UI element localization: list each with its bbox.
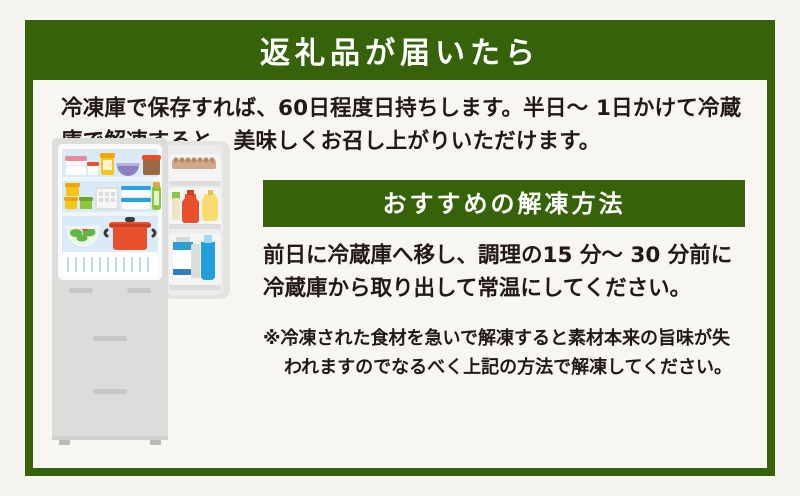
note-text: ※冷凍された食材を急いで解凍すると素材本来の旨味が失われますのでなるべく上記の方… [263, 324, 745, 382]
subheading-title: おすすめの解凍方法 [383, 192, 626, 216]
upper-shelf-items [65, 153, 161, 176]
fridge-door [162, 141, 230, 299]
subheading-banner: おすすめの解凍方法 [263, 180, 745, 227]
freezer-drawers [52, 284, 168, 445]
refrigerator-illustration [45, 138, 245, 448]
fridge-cabinet [52, 138, 168, 445]
method-text: 前日に冷蔵庫へ移し、調理の15 分〜 30 分前に冷蔵庫から取り出して常温にして… [263, 239, 745, 306]
thawing-method-section: おすすめの解凍方法 前日に冷蔵庫へ移し、調理の15 分〜 30 分前に冷蔵庫から… [263, 180, 745, 382]
page-title: 返礼品が届いたら [260, 39, 540, 69]
crisper-drawer [62, 252, 158, 276]
card-body: 冷凍庫で保存すれば、60日程度日持ちします。半日〜 1日かけて冷蔵庫で解凍すると… [33, 80, 767, 468]
info-card: 返礼品が届いたら 冷凍庫で保存すれば、60日程度日持ちします。半日〜 1日かけて… [25, 20, 775, 476]
card-header: 返礼品が届いたら [33, 28, 767, 80]
